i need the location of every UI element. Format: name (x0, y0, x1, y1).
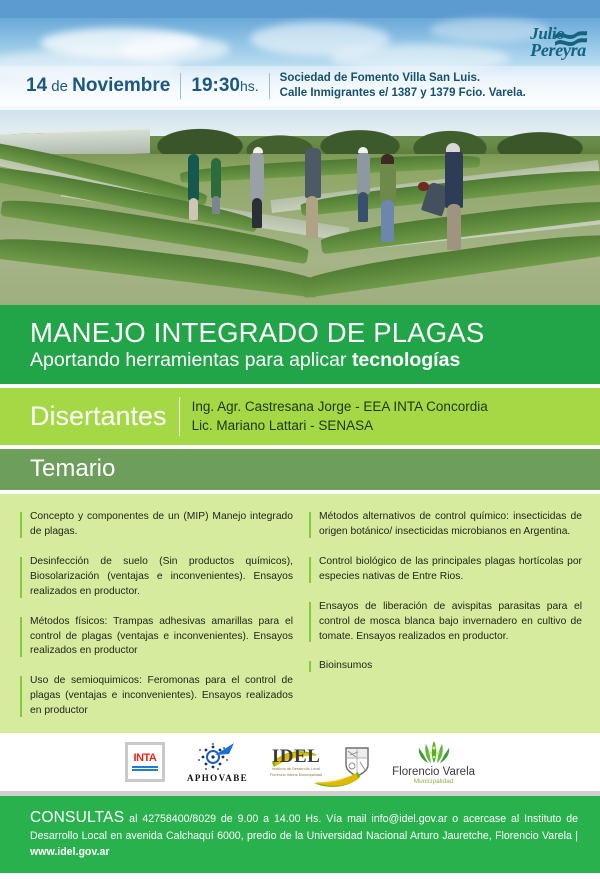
event-venue: Sociedad de Fomento Villa San Luis. Call… (280, 71, 526, 101)
event-time-value: 19:30 (191, 75, 240, 96)
inta-logo-text: INTA (134, 753, 157, 764)
idel-logo-sub-1: Instituto de Desarrollo Local (270, 767, 322, 771)
photo-person-cap (358, 147, 368, 153)
divider (180, 73, 181, 99)
subtitle-plain: Aportando herramientas para aplicar (30, 349, 352, 371)
contact-website[interactable]: www.idel.gov.ar (30, 846, 109, 858)
inta-logo-bar (132, 766, 158, 768)
photo-person (250, 152, 264, 200)
photo-person (381, 200, 394, 242)
aphovabe-logo: APHOVABE (187, 742, 248, 783)
photo-person-hair (446, 143, 460, 152)
contact-footer: CONSULTAS al 42758400/8029 de 9.00 a 14.… (0, 796, 600, 873)
agenda-item: Desinfección de suelo (Sin productos quí… (18, 555, 293, 600)
compass-star-icon (196, 742, 238, 772)
idel-logo: IDEL Instituto de Desarrollo Local Flore… (270, 747, 322, 777)
photo-person (212, 196, 220, 214)
agenda-label: Temario (30, 455, 600, 483)
wave-icon (554, 28, 588, 48)
page-title: MANEJO INTEGRADO DE PLAGAS (30, 319, 600, 348)
agenda-item: Ensayos de liberación de avispitas paras… (307, 600, 582, 645)
photo-person (306, 196, 318, 238)
photo-person (189, 198, 198, 220)
agenda-item: Concepto y componentes de un (MIP) Manej… (18, 510, 293, 540)
speakers-label: Disertantes (30, 401, 167, 432)
event-date-strip: 14 de Noviembre 19:30hs. Sociedad de Fom… (0, 66, 600, 106)
photo-person (252, 198, 262, 228)
speaker-name-2: Lic. Mariano Lattari - SENASA (192, 416, 488, 436)
photo-person-cap (418, 182, 429, 191)
sponsor-logos: INTA (0, 733, 600, 791)
agenda-content: Concepto y componentes de un (MIP) Manej… (0, 494, 600, 733)
contact-text: CONSULTAS al 42758400/8029 de 9.00 a 14.… (30, 806, 578, 861)
inta-logo-bar (132, 769, 158, 771)
leaf-crown-icon (411, 739, 457, 765)
title-band: MANEJO INTEGRADO DE PLAGAS Aportando her… (0, 305, 600, 384)
event-date: 14 de Noviembre (0, 75, 170, 97)
event-time-suffix: hs. (240, 78, 259, 94)
agenda-item: Control biológico de las principales pla… (307, 555, 582, 585)
date-connector: de (47, 78, 72, 95)
speaker-name-1: Ing. Agr. Castresana Jorge - EEA INTA Co… (192, 397, 488, 417)
inta-logo: INTA (125, 742, 165, 782)
florencio-varela-text: Florencio Varela (392, 767, 475, 779)
photo-person (445, 150, 463, 208)
photo-person (380, 162, 396, 202)
hero-sky: Julio Pereyra 14 de Noviembre 19:30hs. S… (0, 0, 600, 110)
speakers-band: Disertantes Ing. Agr. Castresana Jorge -… (0, 388, 600, 445)
event-day: 14 (26, 75, 47, 96)
field-photo (0, 110, 600, 305)
julio-pereyra-logo: Julio Pereyra (530, 26, 586, 58)
divider (179, 397, 180, 436)
idel-logo-sub-2: Florencio Varela Municipalidad (270, 773, 322, 777)
speakers-list: Ing. Agr. Castresana Jorge - EEA INTA Co… (192, 397, 488, 436)
aphovabe-logo-text: APHOVABE (187, 773, 248, 783)
divider (269, 73, 270, 99)
florencio-varela-logo: Florencio Varela Municipalidad (392, 739, 475, 786)
idel-logo-text: IDEL (270, 747, 322, 766)
photo-person-cap (253, 147, 263, 153)
page-subtitle: Aportando herramientas para aplicar tecn… (30, 349, 600, 372)
venue-line-1: Sociedad de Fomento Villa San Luis. (280, 71, 526, 86)
subtitle-emphasis: tecnologías (352, 349, 460, 371)
venue-line-2: Calle Inmigrantes e/ 1387 y 1379 Fcio. V… (280, 86, 526, 101)
agenda-column-right: Métodos alternativos de control químico:… (307, 510, 582, 719)
event-month: Noviembre (72, 75, 170, 96)
event-time: 19:30hs. (191, 75, 258, 97)
photo-person (305, 148, 321, 198)
florencio-varela-sub: Municipalidad (414, 779, 454, 786)
agenda-item: Bioinsumos (307, 659, 582, 674)
agenda-item: Métodos alternativos de control químico:… (307, 510, 582, 540)
photo-person (357, 152, 370, 194)
event-poster: Julio Pereyra 14 de Noviembre 19:30hs. S… (0, 0, 600, 879)
agenda-item: Métodos físicos: Trampas adhesivas amari… (18, 615, 293, 660)
contact-heading: CONSULTAS (30, 809, 124, 826)
photo-person (447, 204, 461, 250)
photo-person (188, 154, 199, 200)
photo-person (211, 158, 221, 198)
agenda-item: Uso de semioquimicos: Feromonas para el … (18, 674, 293, 719)
photo-person-hair (381, 154, 394, 164)
agenda-column-left: Concepto y componentes de un (MIP) Manej… (18, 510, 293, 719)
photo-person (358, 192, 368, 222)
agenda-band: Temario (0, 449, 600, 490)
